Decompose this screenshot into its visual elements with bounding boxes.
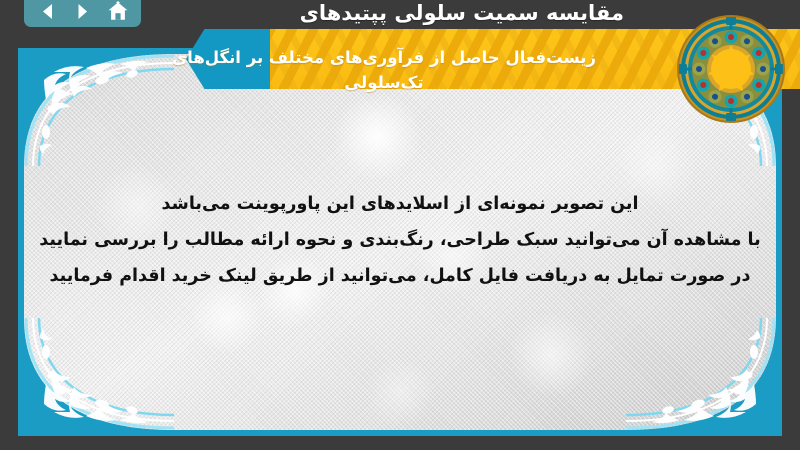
body-line-1: این تصویر نمونه‌ای از اسلایدهای این پاور… — [24, 186, 776, 222]
page-subtitle: زیست‌فعال حاصل از فرآوری‌های مختلف بر ان… — [144, 45, 624, 95]
arabesque-corner-icon — [626, 318, 776, 430]
arabesque-corner-icon — [24, 318, 174, 430]
slide-body-text: این تصویر نمونه‌ای از اسلایدهای این پاور… — [24, 186, 776, 294]
body-line-2: با مشاهده آن می‌توانید سبک طراحی، رنگ‌بن… — [24, 222, 776, 258]
back-button[interactable] — [33, 0, 61, 23]
mandala-medallion-icon — [676, 14, 786, 124]
slide-viewer: این تصویر نمونه‌ای از اسلایدهای این پاور… — [0, 0, 800, 450]
back-arrow-icon — [38, 2, 57, 21]
page-title: مقایسه سمیت سلولی پپتیدهای — [300, 1, 624, 25]
forward-button[interactable] — [69, 0, 97, 23]
home-icon — [107, 1, 129, 22]
home-button[interactable] — [104, 0, 132, 23]
slide-frame: این تصویر نمونه‌ای از اسلایدهای این پاور… — [18, 48, 782, 436]
navigation-bar — [24, 0, 141, 27]
body-line-3: در صورت تمایل به دریافت فایل کامل، می‌تو… — [24, 258, 776, 294]
forward-arrow-icon — [73, 2, 92, 21]
slide-content-area: این تصویر نمونه‌ای از اسلایدهای این پاور… — [24, 54, 776, 430]
